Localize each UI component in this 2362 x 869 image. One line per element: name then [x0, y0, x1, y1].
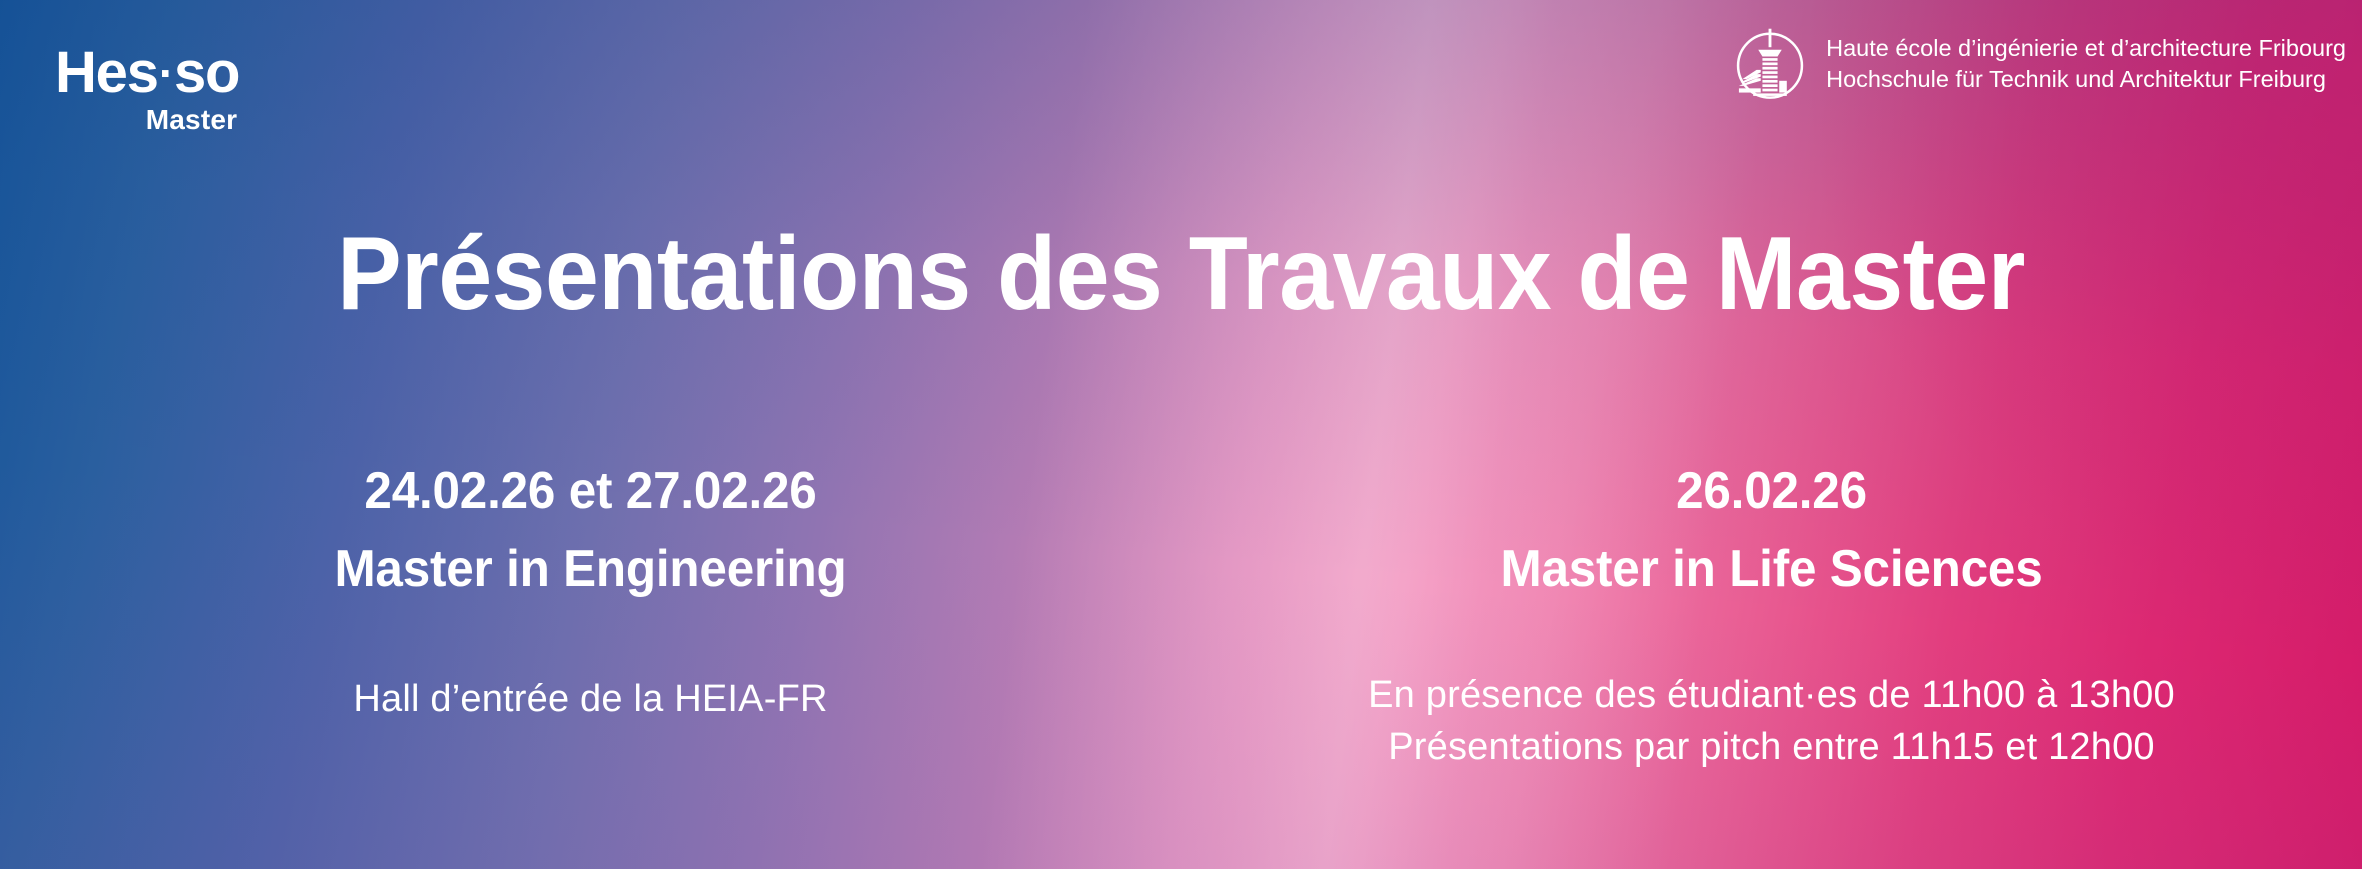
- engineering-dates: 24.02.26 et 27.02.26: [68, 462, 1114, 520]
- heia-fr-name-de: Hochschule für Technik und Architektur F…: [1826, 64, 2346, 95]
- life-sciences-program: Master in Life Sciences: [1249, 540, 2295, 598]
- event-banner: Hes·so Master: [0, 0, 2362, 869]
- life-sciences-detail-line: En présence des étudiant·es de 11h00 à 1…: [1221, 670, 2322, 722]
- life-sciences-detail-line: Présentations par pitch entre 11h15 et 1…: [1221, 722, 2322, 774]
- event-columns: 24.02.26 et 27.02.26 Master in Engineeri…: [0, 462, 2362, 774]
- life-sciences-dates: 26.02.26: [1249, 462, 2295, 520]
- life-sciences-details: En présence des étudiant·es de 11h00 à 1…: [1221, 670, 2322, 773]
- page-title: Présentations des Travaux de Master: [83, 222, 2280, 326]
- hes-so-master-logo[interactable]: Hes·so Master: [55, 44, 239, 134]
- engineering-details: Hall d’entrée de la HEIA-FR: [40, 674, 1141, 726]
- engineering-detail-line: Hall d’entrée de la HEIA-FR: [40, 674, 1141, 726]
- heia-fr-name-fr: Haute école d’ingénierie et d’architectu…: [1826, 33, 2346, 64]
- hes-so-separator-dot: ·: [158, 47, 174, 99]
- heia-fr-logo[interactable]: Haute école d’ingénierie et d’architectu…: [1728, 22, 2346, 106]
- tower-building-icon: [1728, 22, 1812, 106]
- column-engineering: 24.02.26 et 27.02.26 Master in Engineeri…: [0, 462, 1181, 774]
- hes-so-master-label: Master: [55, 106, 239, 134]
- hes-so-wordmark: Hes·so: [55, 44, 239, 102]
- column-life-sciences: 26.02.26 Master in Life Sciences En prés…: [1181, 462, 2362, 774]
- hes-so-word-main: Hes: [55, 40, 158, 105]
- engineering-program: Master in Engineering: [68, 540, 1114, 598]
- heia-fr-names: Haute école d’ingénierie et d’architectu…: [1826, 33, 2346, 96]
- hes-so-word-suffix: so: [174, 40, 239, 105]
